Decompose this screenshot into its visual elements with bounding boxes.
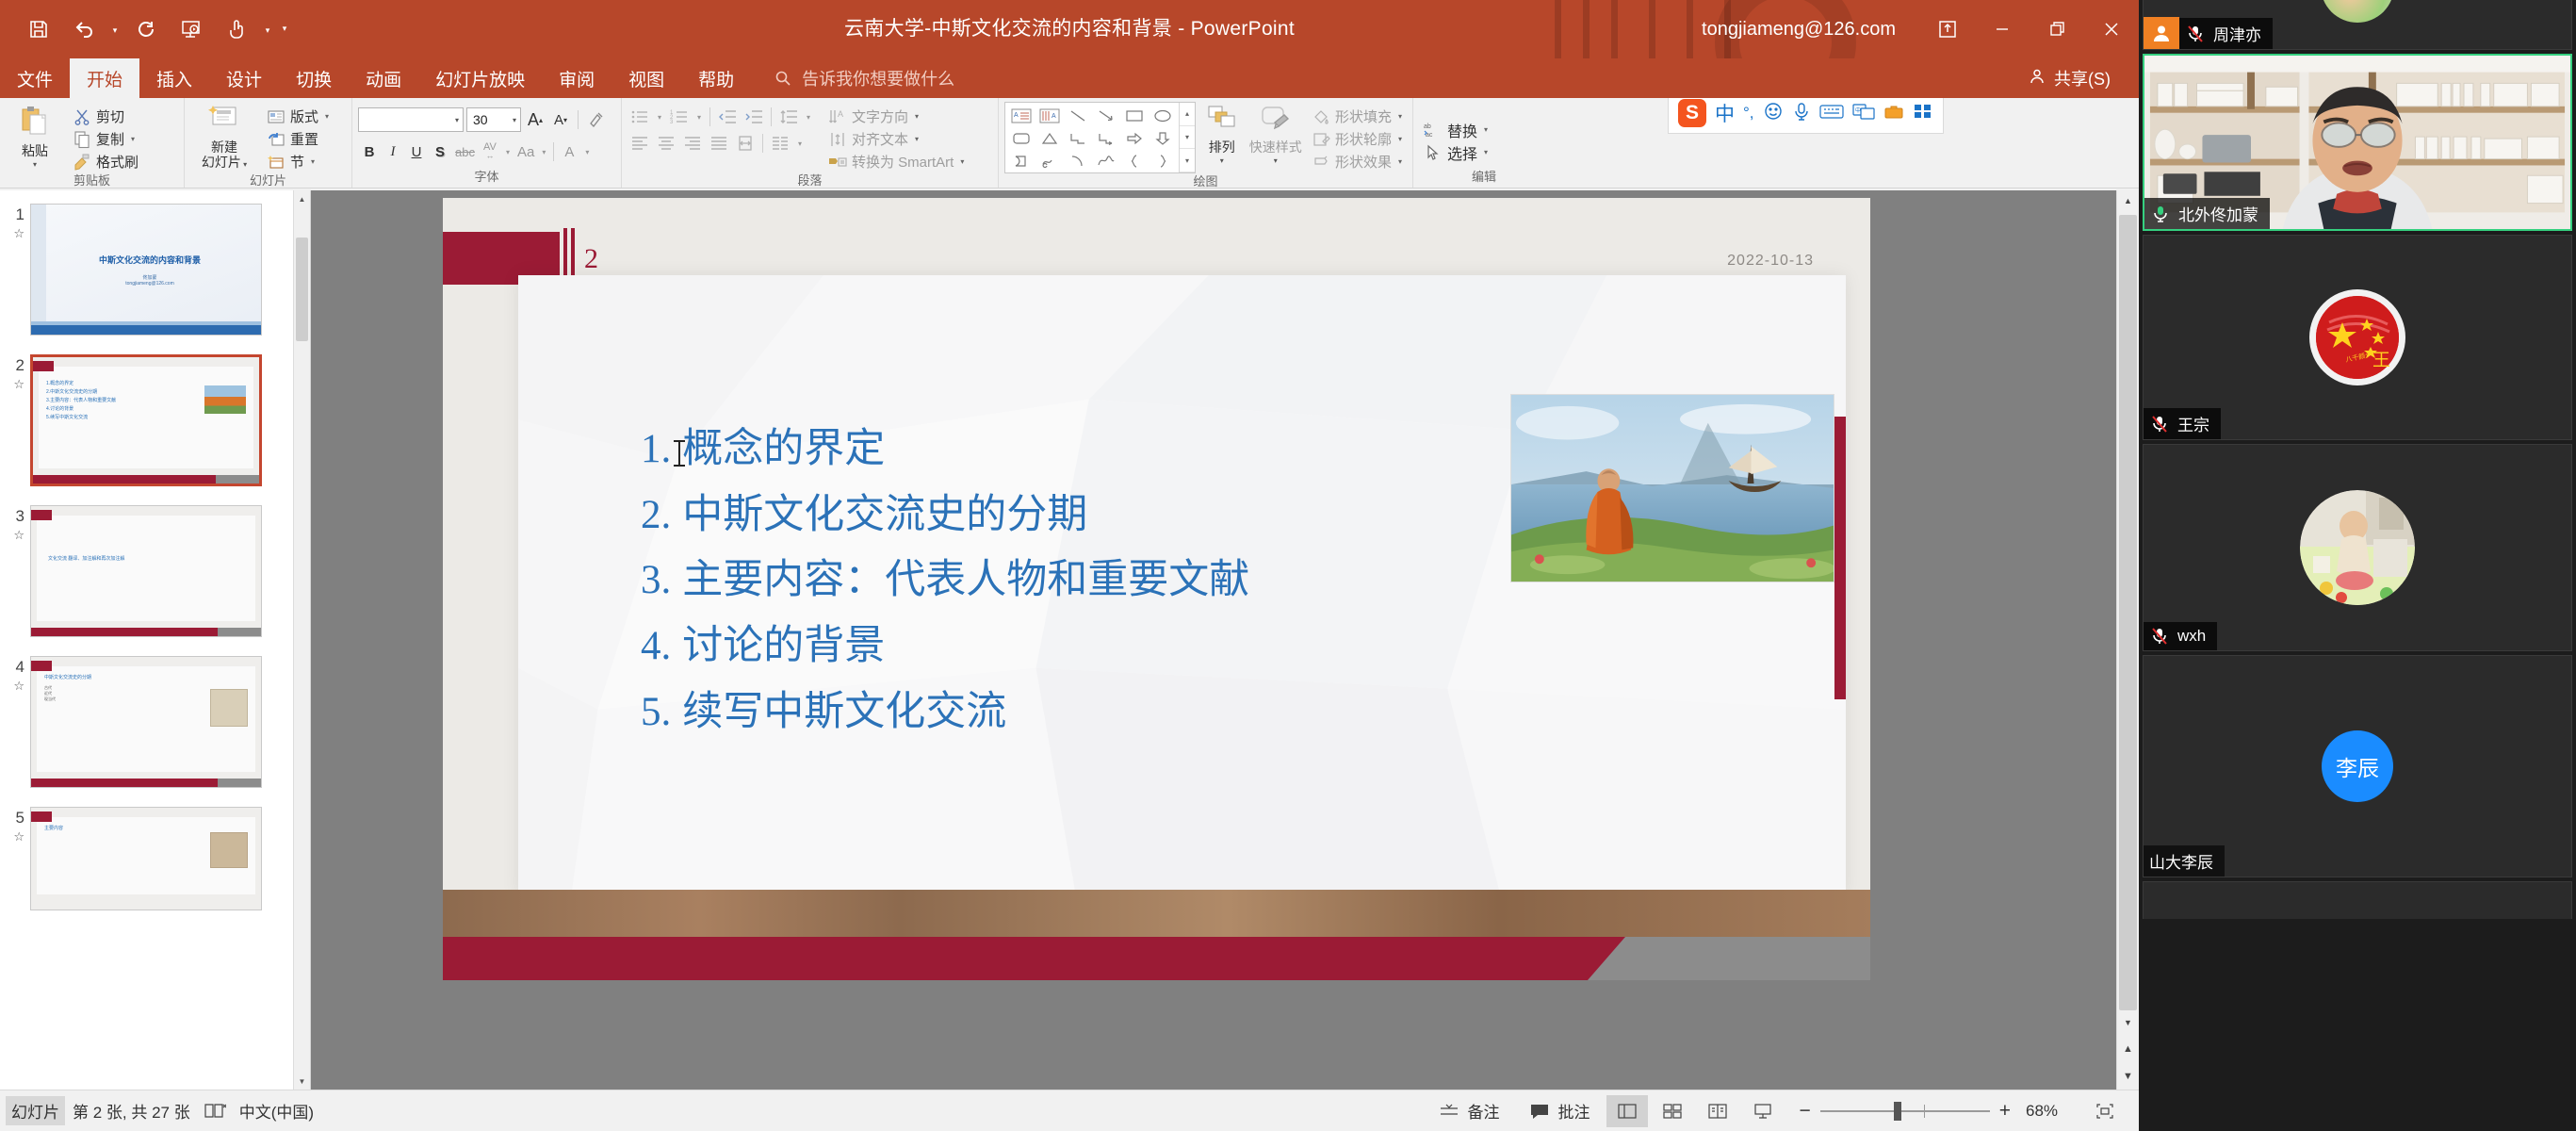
cut-icon (73, 107, 91, 126)
copy-button[interactable]: 复制 ▾ (68, 128, 143, 150)
thumbnail-number: 1☆ (4, 204, 24, 336)
item-number: 1. (641, 417, 671, 483)
slide-footer-grey (1588, 937, 1870, 980)
item-text: 讨论的背景 (682, 614, 885, 680)
shapes-gallery[interactable]: A A (1004, 102, 1196, 173)
copy-label: 复制 (96, 129, 124, 149)
zoom-in-button[interactable]: + (1999, 1100, 2011, 1123)
tell-me-placeholder: 告诉我你想要做什么 (802, 66, 954, 90)
initials-avatar: 李辰 (2322, 730, 2393, 802)
shape-outline-label: 形状轮廓 (1335, 129, 1392, 149)
status-bar-right: 备注 批注 (1426, 1095, 2139, 1127)
shape-outline-button[interactable]: 形状轮廓 ▾ (1307, 128, 1407, 150)
group-label-drawing: 绘图 (1004, 173, 1407, 190)
thumb3-lines: 文化交流 翻译、加注解和再次加注解 (48, 555, 124, 562)
svg-text:王: 王 (2372, 351, 2390, 370)
tab-review[interactable]: 审阅 (542, 58, 611, 98)
font-color-dropdown-caret[interactable]: ▾ (581, 140, 593, 163)
ribbon-group-clipboard: 粘贴 ▾ 剪切 (0, 98, 185, 188)
copy-dropdown-caret[interactable]: ▾ (131, 135, 135, 143)
thumbnail-scrollbar-thumb[interactable] (296, 238, 308, 341)
notes-label: 备注 (1467, 1099, 1499, 1123)
slide-bullet-list[interactable]: 1.概念的界定 2.中斯文化交流史的分期 3.主要内容：代表人物和重要文献 4.… (641, 417, 1249, 745)
status-slide-label: 幻灯片 (6, 1096, 65, 1125)
replace-dropdown-caret[interactable]: ▾ (1484, 125, 1488, 134)
list-item[interactable]: 2☆ 1.概念的界定2.中斯文化交流史的分期3.主要内容：代表人物和重要文献4.… (4, 354, 284, 486)
star-icon: ☆ (4, 224, 24, 243)
quick-access-toolbar: ▾ ▾ ▾ (17, 0, 292, 58)
video-conference-panel: 周津亦 (2139, 0, 2576, 1131)
new-slide-icon (208, 105, 240, 138)
decrease-indent-button[interactable] (715, 106, 740, 128)
layout-dropdown-caret[interactable]: ▾ (325, 112, 329, 121)
thumbnail-scrollbar[interactable]: ▲ ▼ (293, 190, 310, 1090)
participant-tile-zhoujinyi[interactable]: 周津亦 (2143, 0, 2572, 50)
star-icon: ☆ (4, 677, 24, 696)
slide-thumbnail-5[interactable]: 主要内容 (30, 807, 262, 910)
layout-label: 版式 (290, 107, 318, 126)
status-slide-count: 第 2 张, 共 27 张 (65, 1099, 190, 1123)
thumb1-title: 中斯文化交流的内容和背景 (56, 254, 244, 266)
zoom-knob[interactable] (1894, 1102, 1901, 1121)
paste-dropdown-caret[interactable]: ▾ (33, 160, 37, 169)
distribute-button[interactable] (733, 132, 758, 155)
copy-icon (73, 130, 91, 149)
close-icon[interactable] (2084, 0, 2139, 58)
keyboard-icon[interactable] (1819, 102, 1844, 125)
layout-icon (267, 107, 285, 126)
align-right-button[interactable] (680, 132, 705, 155)
shape-effects-icon (1312, 153, 1330, 172)
canvas-slide-nav: ▲ ▼ (2117, 1035, 2139, 1090)
slide-date-text: 2022-10-13 (1727, 253, 1814, 270)
comments-button[interactable]: 批注 (1516, 1099, 1603, 1123)
line-spacing-dropdown-caret[interactable]: ▾ (803, 106, 814, 128)
shape-right-brace[interactable] (1149, 150, 1177, 172)
shape-line[interactable] (1064, 105, 1092, 127)
shape-elbow-arrow-connector[interactable] (1092, 127, 1120, 150)
current-slide[interactable]: 2 2022-10-13 (443, 198, 1870, 980)
chevron-down-icon[interactable]: ▾ (449, 116, 459, 124)
bullet-dropdown-caret[interactable]: ▾ (654, 106, 665, 128)
increase-font-size-button[interactable]: A▴ (524, 108, 546, 131)
shape-outline-icon (1312, 130, 1330, 149)
group-label-paragraph: 段落 (628, 172, 992, 189)
paste-icon (19, 105, 51, 141)
change-case-button[interactable]: Aa (514, 140, 537, 163)
cut-label: 剪切 (96, 107, 124, 126)
align-text-button[interactable]: 对齐文本 ▾ (823, 128, 969, 150)
toolbox-icon[interactable] (1883, 102, 1904, 125)
star-icon: ☆ (4, 828, 24, 846)
arrange-dropdown-caret[interactable]: ▾ (1220, 156, 1224, 165)
text-direction-label: 文字方向 (852, 107, 908, 126)
font-color-button[interactable]: A (558, 140, 580, 163)
group-label-slides: 幻灯片 (190, 172, 346, 189)
ribbon-tabs: 文件 开始 插入 设计 切换 动画 幻灯片放映 审阅 视图 帮助 告诉我你想要做… (0, 58, 2139, 98)
italic-button[interactable]: I (382, 140, 404, 163)
new-slide-label: 新建 幻灯片 ▾ (202, 139, 247, 172)
share-label: 共享(S) (2054, 66, 2111, 90)
quick-styles-dropdown-caret[interactable]: ▾ (1274, 156, 1278, 165)
ime-mode-button[interactable]: 中 (1715, 99, 1735, 127)
slide-image[interactable] (1510, 394, 1834, 582)
previous-slide-button[interactable]: ▲ (2117, 1035, 2139, 1062)
align-left-button[interactable] (628, 132, 652, 155)
font-size-input[interactable]: 30 ▾ (466, 107, 521, 132)
section-label: 节 (290, 152, 304, 172)
justify-button[interactable] (707, 132, 731, 155)
participant-name: 王宗 (2177, 412, 2209, 435)
item-text: 中斯文化交流史的分期 (682, 483, 1087, 549)
powerpoint-window: ▾ ▾ ▾ 云南大学-中斯文化交流的内容和背景 - Pow (0, 0, 2139, 1131)
smartart-icon (828, 153, 847, 172)
align-text-label: 对齐文本 (852, 129, 908, 149)
microphone-icon[interactable] (1792, 101, 1811, 126)
slide-footer-band (443, 937, 1870, 980)
section-button[interactable]: 节 ▾ (262, 151, 334, 172)
svg-text:A: A (1014, 112, 1019, 119)
smartart-label: 转换为 SmartArt (852, 152, 954, 172)
change-case-dropdown-caret[interactable]: ▾ (538, 140, 549, 163)
shapes-more-button[interactable]: ▾ (1180, 149, 1195, 172)
touch-mode-icon[interactable] (215, 8, 258, 51)
start-slideshow-icon[interactable] (170, 8, 213, 51)
baby-photo-avatar (2300, 490, 2415, 605)
character-spacing-dropdown-caret[interactable]: ▾ (502, 140, 514, 163)
columns-dropdown-caret[interactable]: ▾ (794, 132, 806, 155)
select-button[interactable]: 选择 ▾ (1419, 141, 1492, 163)
shape-outline-dropdown-caret[interactable]: ▾ (1398, 135, 1402, 143)
ime-punctuation-button[interactable]: °, (1743, 104, 1754, 123)
list-item[interactable]: 3☆ 文化交流 翻译、加注解和再次加注解 (4, 505, 284, 637)
mic-muted-icon (2185, 24, 2206, 44)
quick-styles-label: 快速样式 (1249, 139, 1302, 155)
participant-tile-wangzong[interactable]: 王 八千颜夕 王宗 (2143, 235, 2572, 440)
smartart-dropdown-caret[interactable]: ▾ (960, 157, 964, 166)
ribbon-group-drawing: A A (999, 98, 1413, 188)
format-painter-label: 格式刷 (96, 152, 139, 172)
slide-right-accent (1834, 417, 1846, 699)
partial-photo-avatar (2321, 0, 2394, 23)
shape-right-arrow[interactable] (1120, 127, 1149, 150)
list-item[interactable]: 1☆ 中斯文化交流的内容和背景 佟加蒙tongjiameng@126.com (4, 204, 284, 336)
redo-icon[interactable] (124, 8, 168, 51)
svg-text:A: A (1052, 113, 1056, 120)
align-center-button[interactable] (654, 132, 678, 155)
select-icon (1424, 143, 1443, 162)
arrange-icon (1206, 105, 1238, 138)
chevron-down-icon[interactable]: ▾ (507, 116, 516, 124)
spellcheck-icon[interactable] (190, 1102, 239, 1121)
increase-indent-button[interactable] (742, 106, 766, 128)
thumb5-title: 主要内容 (44, 825, 63, 831)
item-text: 续写中斯文化交流 (682, 680, 1006, 746)
share-button[interactable]: 共享(S) (2028, 58, 2139, 98)
item-text: 主要内容：代表人物和重要文献 (682, 548, 1249, 614)
list-item[interactable]: 5☆ 主要内容 (4, 807, 284, 910)
thumbnail-scroll-down-button[interactable]: ▼ (294, 1073, 310, 1090)
ribbon-display-options-icon[interactable] (1920, 0, 1975, 58)
replace-button[interactable]: ab ac 替换 ▾ (1419, 119, 1492, 140)
slide-canvas[interactable]: 2 2022-10-13 (311, 190, 2139, 1090)
slide-thumbnail-2[interactable]: 1.概念的界定2.中斯文化交流史的分期3.主要内容：代表人物和重要文献4.讨论的… (30, 354, 262, 486)
clear-formatting-button[interactable] (584, 108, 609, 131)
undo-icon[interactable] (62, 8, 106, 51)
slide-thumbnail-3[interactable]: 文化交流 翻译、加注解和再次加注解 (30, 505, 262, 637)
ribbon: 粘贴 ▾ 剪切 (0, 98, 2139, 188)
list-item: 2.中斯文化交流史的分期 (641, 483, 1249, 549)
text-direction-button[interactable]: A 文字方向 ▾ (823, 106, 969, 127)
ribbon-group-editing: ab ac 替换 ▾ 选择 (1413, 98, 1555, 188)
tab-home[interactable]: 开始 (70, 58, 139, 98)
minimize-icon[interactable] (1975, 0, 2030, 58)
item-number: 4. (641, 614, 671, 680)
canvas-scroll-down-button[interactable]: ▼ (2117, 1012, 2139, 1033)
thumb4-title: 中斯文化交流史的分期 (44, 674, 91, 680)
group-label-editing: 编辑 (1419, 169, 1549, 188)
cut-button[interactable]: 剪切 (68, 106, 143, 127)
slide-thumbnail-4[interactable]: 中斯文化交流史的分期 古代近代现当代 (30, 656, 262, 788)
translate-icon[interactable]: 中 (1852, 102, 1875, 125)
quick-styles-icon (1260, 105, 1292, 138)
comments-label: 批注 (1557, 1099, 1590, 1123)
shape-triangle[interactable] (1035, 127, 1064, 150)
sogou-logo-icon[interactable]: S (1678, 99, 1706, 127)
slide-inner-panel: 1.概念的界定 2.中斯文化交流史的分期 3.主要内容：代表人物和重要文献 4.… (518, 275, 1846, 895)
slide-thumbnail-pane: 1☆ 中斯文化交流的内容和背景 佟加蒙tongjiameng@126.com (0, 190, 311, 1090)
title-bar: ▾ ▾ ▾ 云南大学-中斯文化交流的内容和背景 - Pow (0, 0, 2139, 58)
text-shadow-button[interactable]: S (429, 140, 451, 163)
participant-name-bar: 周津亦 (2179, 18, 2273, 49)
shape-pie[interactable] (1007, 150, 1035, 172)
restore-icon[interactable] (2030, 0, 2084, 58)
numbered-list-button[interactable]: 1 2 3 (667, 106, 692, 128)
smiley-icon[interactable] (1763, 101, 1784, 126)
shape-fill-dropdown-caret[interactable]: ▾ (1398, 112, 1402, 121)
apps-grid-icon[interactable] (1913, 102, 1933, 125)
shape-fill-button[interactable]: 形状填充 ▾ (1307, 106, 1407, 127)
status-bar: 幻灯片 第 2 张, 共 27 张 中文(中国) 备注 批注 (0, 1090, 2139, 1131)
font-name-input[interactable]: ▾ (358, 107, 464, 132)
fit-slide-to-window-icon[interactable] (2084, 1095, 2126, 1127)
account-email[interactable]: tongjiameng@126.com (1677, 19, 1920, 41)
shape-scribble[interactable] (1035, 150, 1064, 172)
tab-insert[interactable]: 插入 (139, 58, 209, 98)
replace-label: 替换 (1447, 119, 1477, 141)
shape-ellipse[interactable] (1149, 105, 1177, 127)
shape-rectangle[interactable] (1120, 105, 1149, 127)
shape-vertical-textbox[interactable]: A (1035, 105, 1064, 127)
participant-name-bar: wxh (2144, 622, 2217, 650)
list-item: 5.续写中斯文化交流 (641, 680, 1249, 746)
group-label-font: 字体 (358, 169, 615, 188)
customize-qat-icon[interactable]: ▾ (277, 8, 292, 51)
thumbnail-number: 3☆ (4, 505, 24, 637)
notes-button[interactable]: 备注 (1426, 1099, 1512, 1123)
select-label: 选择 (1447, 141, 1477, 164)
tab-transitions[interactable]: 切换 (279, 58, 349, 98)
canvas-scroll-up-button[interactable]: ▲ (2117, 190, 2139, 211)
zoom-slider[interactable]: − + (1787, 1100, 2022, 1123)
participant-name-bar: 北外佟加蒙 (2144, 198, 2270, 229)
shapes-scroll-up-button[interactable]: ▴ (1180, 103, 1195, 126)
tab-view[interactable]: 视图 (611, 58, 681, 98)
section-icon (267, 153, 285, 172)
convert-to-smartart-button[interactable]: 转换为 SmartArt ▾ (823, 151, 969, 172)
shapes-scroll-down-button[interactable]: ▾ (1180, 126, 1195, 150)
list-item: 1.概念的界定 (641, 417, 1249, 483)
ribbon-group-paragraph: ▾ 1 2 3 ▾ (622, 98, 999, 188)
align-text-icon (828, 130, 847, 149)
shape-elbow-connector[interactable] (1064, 127, 1092, 150)
thumbnail-scroll-up-button[interactable]: ▲ (294, 190, 310, 207)
character-spacing-button[interactable]: AV↔ (479, 140, 501, 163)
mic-muted-icon (2149, 414, 2170, 434)
mic-muted-icon (2149, 626, 2170, 647)
participant-name: wxh (2177, 627, 2206, 646)
shape-fill-label: 形状填充 (1335, 107, 1392, 126)
replace-icon: ab ac (1424, 121, 1443, 139)
strikethrough-button[interactable]: abc (452, 140, 478, 163)
tab-file[interactable]: 文件 (0, 58, 70, 98)
slideshow-view-button[interactable] (1742, 1095, 1784, 1127)
thumbnail-number: 5☆ (4, 807, 24, 910)
status-language[interactable]: 中文(中国) (239, 1099, 314, 1123)
tab-help[interactable]: 帮助 (681, 58, 751, 98)
reset-label: 重置 (290, 129, 318, 149)
shape-arc[interactable] (1064, 150, 1092, 172)
select-dropdown-caret[interactable]: ▾ (1484, 148, 1488, 156)
align-text-dropdown-caret[interactable]: ▾ (915, 135, 919, 143)
group-label-clipboard: 剪贴板 (6, 172, 178, 189)
format-painter-button[interactable]: 格式刷 (68, 151, 143, 172)
normal-view-button[interactable] (1606, 1095, 1648, 1127)
item-number: 3. (641, 548, 671, 614)
canvas-scrollbar-thumb[interactable] (2119, 215, 2137, 1010)
tab-design[interactable]: 设计 (209, 58, 279, 98)
list-item: 3.主要内容：代表人物和重要文献 (641, 548, 1249, 614)
mic-active-icon (2150, 204, 2171, 224)
participant-tile-tongjiameng[interactable]: 北外佟加蒙 (2143, 54, 2572, 231)
participant-tile-next[interactable] (2143, 881, 2572, 919)
reading-view-button[interactable] (1697, 1095, 1738, 1127)
svg-text:ab: ab (1424, 123, 1431, 130)
svg-text:3: 3 (670, 120, 674, 125)
slide-thumbnail-list: 1☆ 中斯文化交流的内容和背景 佟加蒙tongjiameng@126.com (0, 190, 293, 1090)
next-slide-button[interactable]: ▼ (2117, 1062, 2139, 1090)
participant-name-bar: 王宗 (2144, 408, 2221, 439)
font-size-value: 30 (473, 112, 507, 127)
list-item[interactable]: 4☆ 中斯文化交流史的分期 古代近代现当代 (4, 656, 284, 788)
star-icon: ☆ (4, 375, 24, 394)
work-area: 1☆ 中斯文化交流的内容和背景 佟加蒙tongjiameng@126.com (0, 190, 2139, 1090)
arrange-button[interactable]: 排列 ▾ (1199, 102, 1245, 165)
participant-name-bar: 山大李辰 (2144, 845, 2225, 877)
reset-icon (267, 130, 285, 149)
columns-button[interactable] (768, 132, 792, 155)
shape-arrow[interactable] (1092, 105, 1120, 127)
slide-thumbnail-1[interactable]: 中斯文化交流的内容和背景 佟加蒙tongjiameng@126.com (30, 204, 262, 336)
star-icon: ☆ (4, 526, 24, 545)
shape-effects-label: 形状效果 (1335, 152, 1392, 172)
item-number: 5. (641, 680, 671, 746)
line-spacing-button[interactable] (776, 106, 801, 128)
arrange-label: 排列 (1209, 139, 1235, 155)
list-item: 4.讨论的背景 (641, 614, 1249, 680)
search-icon (774, 69, 792, 88)
svg-text:中: 中 (1855, 107, 1861, 114)
format-painter-icon (73, 153, 91, 172)
flag-badge-avatar: 王 八千颜夕 (2308, 288, 2406, 386)
participant-name: 周津亦 (2213, 22, 2261, 45)
section-dropdown-caret[interactable]: ▾ (311, 157, 315, 166)
participant-badge (2144, 17, 2179, 49)
reset-button[interactable]: 重置 (262, 128, 334, 150)
text-cursor (678, 440, 680, 467)
paste-label: 粘贴 (22, 143, 48, 158)
canvas-scrollbar[interactable]: ▲ ▼ ▲ ▼ (2116, 190, 2139, 1090)
paste-button[interactable]: 粘贴 ▾ (6, 102, 64, 169)
text-direction-icon: A (828, 107, 847, 126)
bullet-list-button[interactable] (628, 106, 652, 128)
bold-button[interactable]: B (358, 140, 381, 163)
new-slide-dropdown-caret[interactable]: ▾ (241, 160, 247, 169)
ribbon-group-slides: 新建 幻灯片 ▾ 版式 ▾ (185, 98, 352, 188)
slide-wood-strip (443, 890, 1870, 937)
shape-curve[interactable] (1092, 150, 1120, 172)
numbered-dropdown-caret[interactable]: ▾ (693, 106, 705, 128)
shape-left-brace[interactable] (1120, 150, 1149, 172)
ribbon-group-font: ▾ 30 ▾ A▴ A▾ (352, 98, 622, 188)
slide-sorter-view-button[interactable] (1652, 1095, 1693, 1127)
shape-textbox[interactable]: A (1007, 105, 1035, 127)
thumbnail-number: 2☆ (4, 354, 24, 486)
thumbnail-number: 4☆ (4, 656, 24, 788)
slide-number-text: 2 (584, 243, 598, 275)
quick-styles-button[interactable]: 快速样式 ▾ (1248, 102, 1303, 165)
participant-tile-shandalichen[interactable]: 李辰 山大李辰 (2143, 655, 2572, 877)
participant-name: 北外佟加蒙 (2178, 202, 2258, 225)
new-slide-button[interactable]: 新建 幻灯片 ▾ (190, 102, 258, 172)
participant-tile-wxh[interactable]: wxh (2143, 444, 2572, 651)
participant-name: 山大李辰 (2149, 849, 2213, 873)
tab-slideshow[interactable]: 幻灯片放映 (418, 58, 542, 98)
tab-animations[interactable]: 动画 (349, 58, 418, 98)
tell-me-search[interactable]: 告诉我你想要做什么 (751, 58, 954, 98)
zoom-tick-100 (1924, 1105, 1925, 1118)
touch-mode-dropdown-caret[interactable]: ▾ (260, 8, 275, 51)
shape-fill-icon (1312, 107, 1330, 126)
shape-rounded-rectangle[interactable] (1007, 127, 1035, 150)
shape-effects-dropdown-caret[interactable]: ▾ (1398, 157, 1402, 166)
zoom-out-button[interactable]: − (1799, 1100, 1810, 1123)
share-person-icon (2028, 67, 2046, 90)
decrease-font-size-button[interactable]: A▾ (549, 108, 572, 131)
save-icon[interactable] (17, 8, 60, 51)
shape-down-arrow[interactable] (1149, 127, 1177, 150)
zoom-level-label[interactable]: 68% (2026, 1102, 2080, 1121)
ime-toolbar: S 中 °, 中 (1668, 92, 1944, 134)
undo-dropdown-caret[interactable]: ▾ (107, 8, 122, 51)
text-direction-dropdown-caret[interactable]: ▾ (915, 112, 919, 121)
svg-text:A: A (838, 109, 843, 119)
item-number: 2. (641, 483, 671, 549)
layout-button[interactable]: 版式 ▾ (262, 106, 334, 127)
shape-effects-button[interactable]: 形状效果 ▾ (1307, 151, 1407, 172)
underline-button[interactable]: U (405, 140, 428, 163)
zoom-track[interactable] (1820, 1110, 1990, 1112)
